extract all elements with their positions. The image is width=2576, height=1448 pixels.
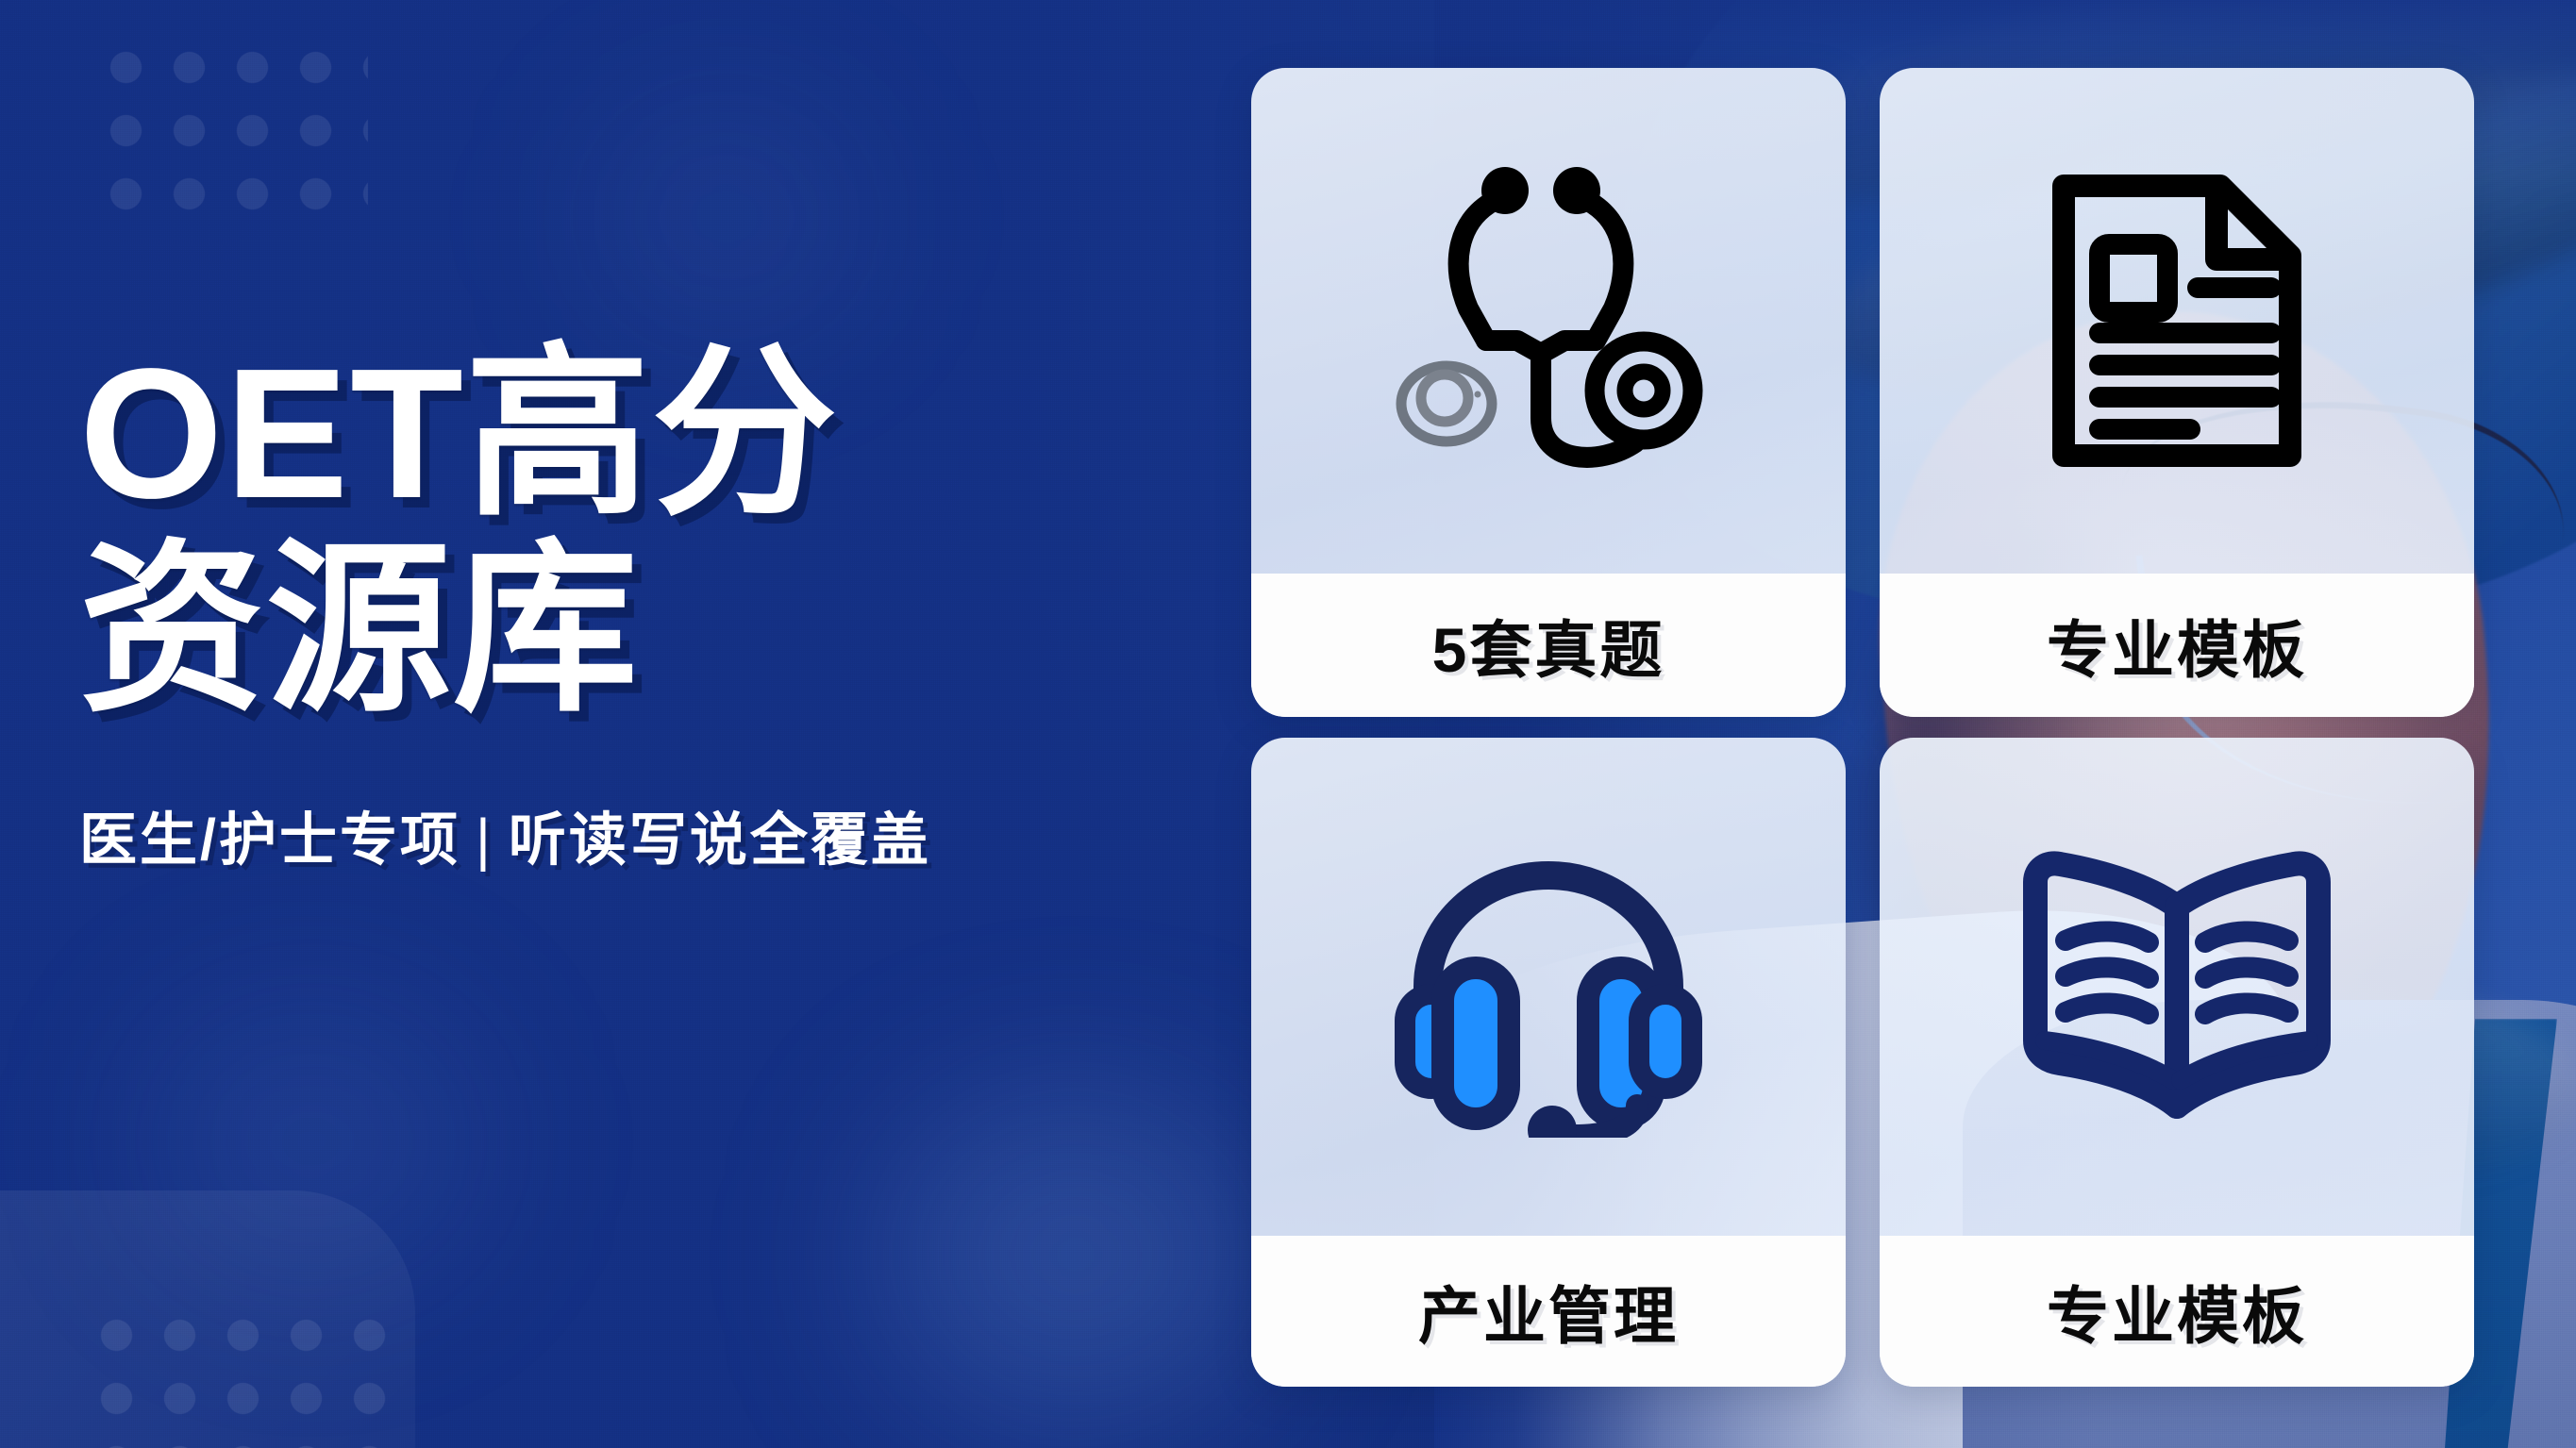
card-label: 产业管理 [1251, 1236, 1846, 1387]
card-icon-area [1251, 68, 1846, 574]
document-icon [2035, 165, 2318, 476]
headline-line-1: OET高分 [79, 336, 1193, 532]
card-icon-area [1251, 738, 1846, 1236]
subtitle: 医生/护士专项|听读写说全覆盖 [79, 792, 1193, 876]
open-book-icon [2016, 841, 2337, 1133]
card-label: 5套真题 [1251, 574, 1846, 717]
feature-card-industry-management[interactable]: 产业管理 [1251, 738, 1846, 1387]
feature-card-templates-top[interactable]: 专业模板 [1880, 68, 2474, 717]
headline-line-2: 资源库 [79, 532, 1193, 728]
stethoscope-icon [1388, 165, 1709, 476]
headset-icon [1379, 836, 1718, 1138]
headline-block: OET高分 资源库 医生/护士专项|听读写说全覆盖 [79, 336, 1193, 876]
subtitle-separator: | [460, 807, 509, 872]
subtitle-right-text: 听读写说全覆盖 [509, 807, 931, 872]
feature-card-grid: 5套真题 专业模板 [1251, 68, 2474, 1377]
card-icon-area [1880, 68, 2474, 574]
card-label: 专业模板 [1880, 1236, 2474, 1387]
subtitle-left-text: 医生/护士专项 [79, 807, 460, 872]
card-label: 专业模板 [1880, 574, 2474, 717]
feature-card-templates-bottom[interactable]: 专业模板 [1880, 738, 2474, 1387]
feature-card-real-exams[interactable]: 5套真题 [1251, 68, 1846, 717]
poster-canvas: OET高分 资源库 医生/护士专项|听读写说全覆盖 [0, 0, 2576, 1448]
card-icon-area [1880, 738, 2474, 1236]
